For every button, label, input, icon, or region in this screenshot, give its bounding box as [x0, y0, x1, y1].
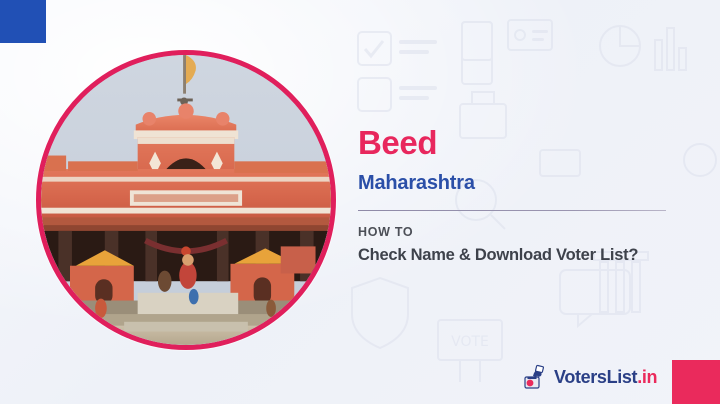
blue-corner-square [0, 0, 46, 43]
brand-name-tld: .in [637, 367, 657, 387]
howto-label: HOW TO [358, 225, 678, 239]
howto-question: Check Name & Download Voter List? [358, 246, 678, 265]
page-subtitle-state: Maharashtra [358, 172, 678, 195]
banner: VOTE [0, 0, 720, 404]
hand-ballot-box-icon [522, 364, 548, 390]
pink-corner-square [672, 360, 720, 404]
brand-name: VotersList.in [554, 367, 657, 388]
brand-name-main: VotersList [554, 367, 637, 387]
content-column: Beed Maharashtra HOW TO Check Name & Dow… [358, 126, 678, 265]
divider [358, 210, 666, 212]
temple-photo-inner [41, 55, 331, 345]
page-title-city: Beed [358, 126, 678, 161]
temple-photo [36, 50, 336, 350]
brand-logo[interactable]: VotersList.in [522, 364, 657, 390]
svg-text:VOTE: VOTE [451, 334, 489, 350]
